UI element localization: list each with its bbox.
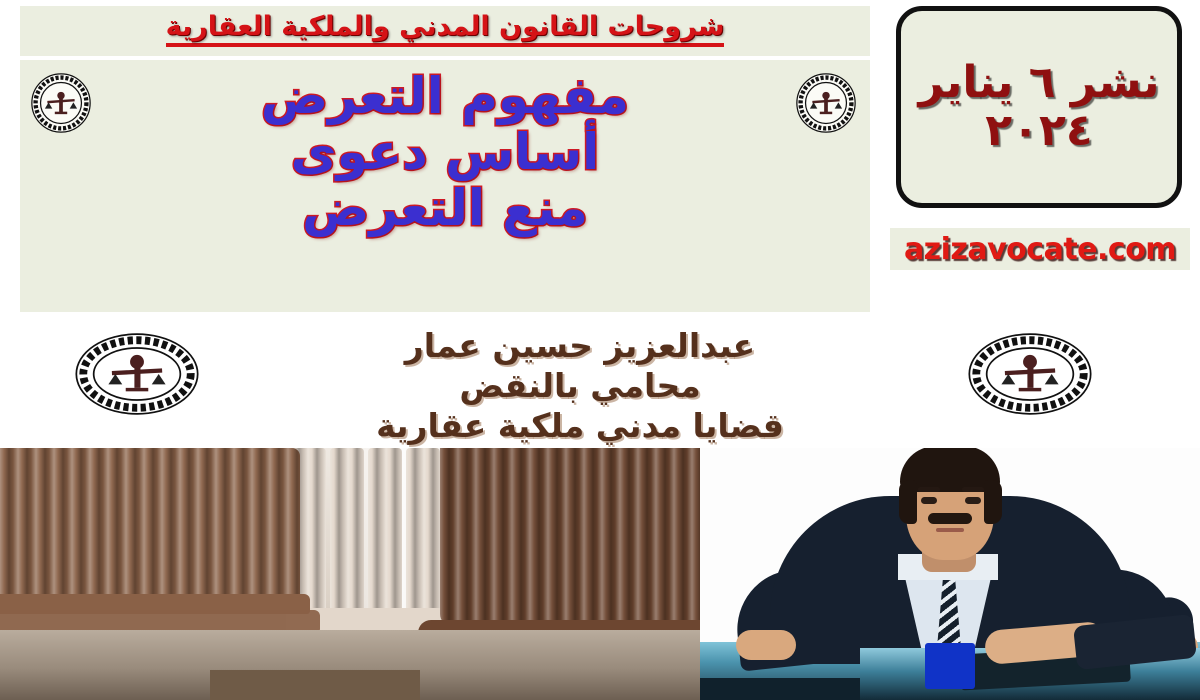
author-specialty: قضايا مدني ملكية عقارية <box>376 406 784 446</box>
mustache <box>928 513 972 524</box>
publication-date-box: نشر ٦ يناير ٢٠٢٤ <box>896 6 1182 208</box>
author-credit: عبدالعزيز حسين عمار محامي بالنقض قضايا م… <box>250 326 910 446</box>
eyebrow <box>962 487 984 492</box>
stone-step <box>210 670 420 700</box>
column <box>406 448 440 616</box>
column <box>368 448 402 616</box>
column-base <box>0 610 320 632</box>
author-name: عبدالعزيز حسين عمار <box>405 326 755 366</box>
header-headline-text: شروحات القانون المدني والملكية العقارية <box>166 13 725 46</box>
eye <box>965 497 981 504</box>
hand <box>736 630 796 660</box>
column <box>330 448 364 616</box>
eye <box>921 497 937 504</box>
title-line-1: مفهوم التعرض <box>261 68 629 124</box>
website-url[interactable]: azizavocate.com <box>904 232 1176 267</box>
column <box>0 448 300 600</box>
scales-of-justice-seal-icon <box>965 330 1095 418</box>
title-line-2: أساس دعوى <box>291 124 599 180</box>
blue-object <box>925 643 975 689</box>
eyebrow <box>918 487 940 492</box>
hero-photo <box>0 448 1200 700</box>
header-headline: شروحات القانون المدني والملكية العقارية <box>20 4 870 56</box>
date-line-2: ٢٠٢٤ <box>985 107 1092 155</box>
scales-of-justice-seal-icon <box>30 72 92 134</box>
poster-canvas: شروحات القانون المدني والملكية العقارية … <box>0 0 1200 700</box>
hair-side <box>899 480 917 524</box>
hair-side <box>984 480 1002 524</box>
website-strip[interactable]: azizavocate.com <box>890 228 1190 270</box>
mouth <box>936 528 964 532</box>
date-line-1: نشر ٦ يناير <box>918 59 1159 107</box>
scales-of-justice-seal-icon <box>72 330 202 418</box>
scales-of-justice-seal-icon <box>795 72 857 134</box>
title-line-3: منع التعرض <box>302 180 588 236</box>
author-role: محامي بالنقض <box>459 366 700 406</box>
page-title: مفهوم التعرض أساس دعوى منع التعرض <box>120 62 770 307</box>
